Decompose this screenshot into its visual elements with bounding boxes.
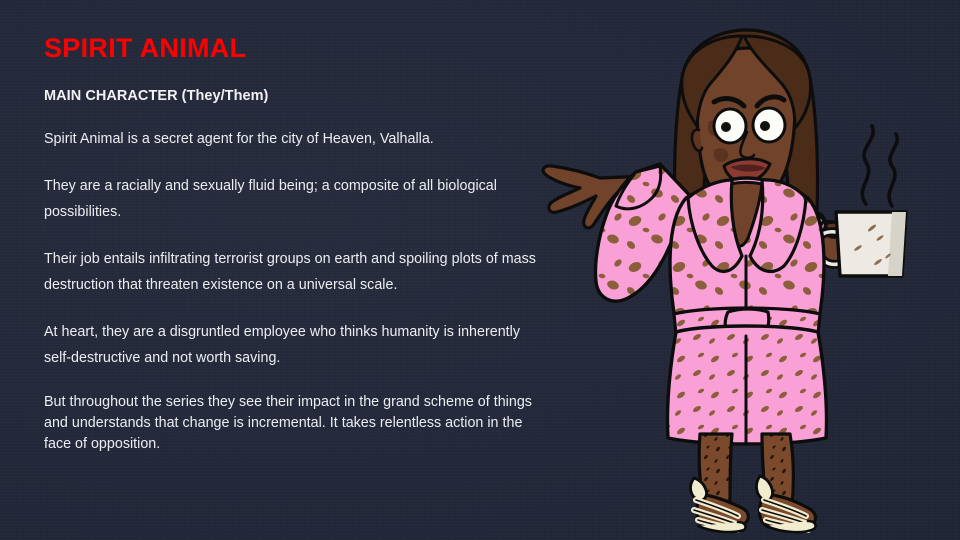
text-column: SPIRIT ANIMAL MAIN CHARACTER (They/Them)… — [44, 34, 544, 455]
page-title: SPIRIT ANIMAL — [44, 34, 544, 64]
character-svg — [536, 26, 956, 538]
body-paragraph-5: But throughout the series they see their… — [44, 392, 544, 455]
subtitle: MAIN CHARACTER (They/Them) — [44, 88, 544, 104]
character-illustration — [536, 26, 956, 538]
pupil-left — [721, 122, 731, 132]
steam-line-1 — [862, 126, 873, 204]
slide-root: SPIRIT ANIMAL MAIN CHARACTER (They/Them)… — [0, 0, 960, 540]
body-paragraph-2: They are a racially and sexually fluid b… — [44, 173, 544, 225]
body-paragraph-4: At heart, they are a disgruntled employe… — [44, 319, 544, 371]
body-paragraph-3: Their job entails infiltrating terrorist… — [44, 246, 544, 298]
body-paragraph-1: Spirit Animal is a secret agent for the … — [44, 126, 544, 152]
steam-line-2 — [889, 134, 897, 206]
pupil-right — [760, 121, 770, 131]
